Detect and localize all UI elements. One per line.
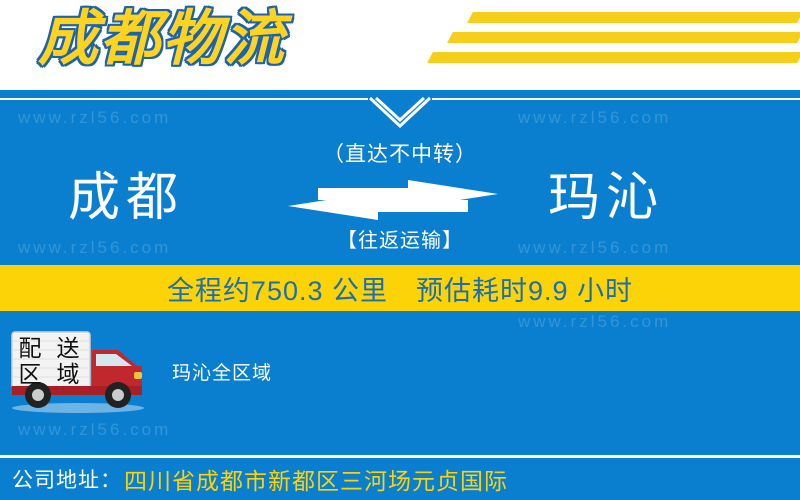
brand-title: 成都物流 <box>38 3 286 75</box>
truck-box-char-1: 配 <box>19 335 42 361</box>
coverage-area-label: 玛沁全区域 <box>172 358 272 385</box>
address-label: 公司地址： <box>12 464 122 494</box>
metrics-band: 全程约750.3 公里 预估耗时9.9 小时 <box>0 265 800 311</box>
distance-duration-text: 全程约750.3 公里 预估耗时9.9 小时 <box>167 269 633 308</box>
delivery-truck-icon: 配 送 区 域 <box>6 328 158 414</box>
destination-city: 玛沁 <box>548 166 664 230</box>
roundtrip-note: 【往返运输】 <box>0 224 800 253</box>
address-value: 四川省成都市新都区三河场元贞国际 <box>124 462 508 496</box>
truck-box-char-3: 区 <box>19 361 42 387</box>
logistics-banner: 成都物流 www.rzl56.com www.rzl56.com www.rzl… <box>0 0 800 500</box>
address-bar: 公司地址： 四川省成都市新都区三河场元贞国际 <box>0 458 800 500</box>
stripe-1 <box>467 12 800 23</box>
stripe-2 <box>447 32 800 43</box>
watermark: www.rzl56.com <box>518 108 671 128</box>
banner-header: 成都物流 <box>0 0 800 90</box>
stripe-3 <box>427 52 800 63</box>
watermark: www.rzl56.com <box>518 312 671 332</box>
banner-body: www.rzl56.com www.rzl56.com www.rzl56.co… <box>0 90 800 455</box>
truck-box-char-4: 域 <box>57 361 80 387</box>
direct-shipping-note: （直达不中转） <box>0 138 800 168</box>
chevron-down-icon <box>368 96 432 130</box>
truck-box-char-2: 送 <box>57 335 80 361</box>
watermark: www.rzl56.com <box>18 108 171 128</box>
origin-city: 成都 <box>68 166 184 230</box>
bidirectional-arrow-icon <box>288 178 498 222</box>
watermark: www.rzl56.com <box>18 420 171 440</box>
decorative-stripes <box>410 12 800 74</box>
